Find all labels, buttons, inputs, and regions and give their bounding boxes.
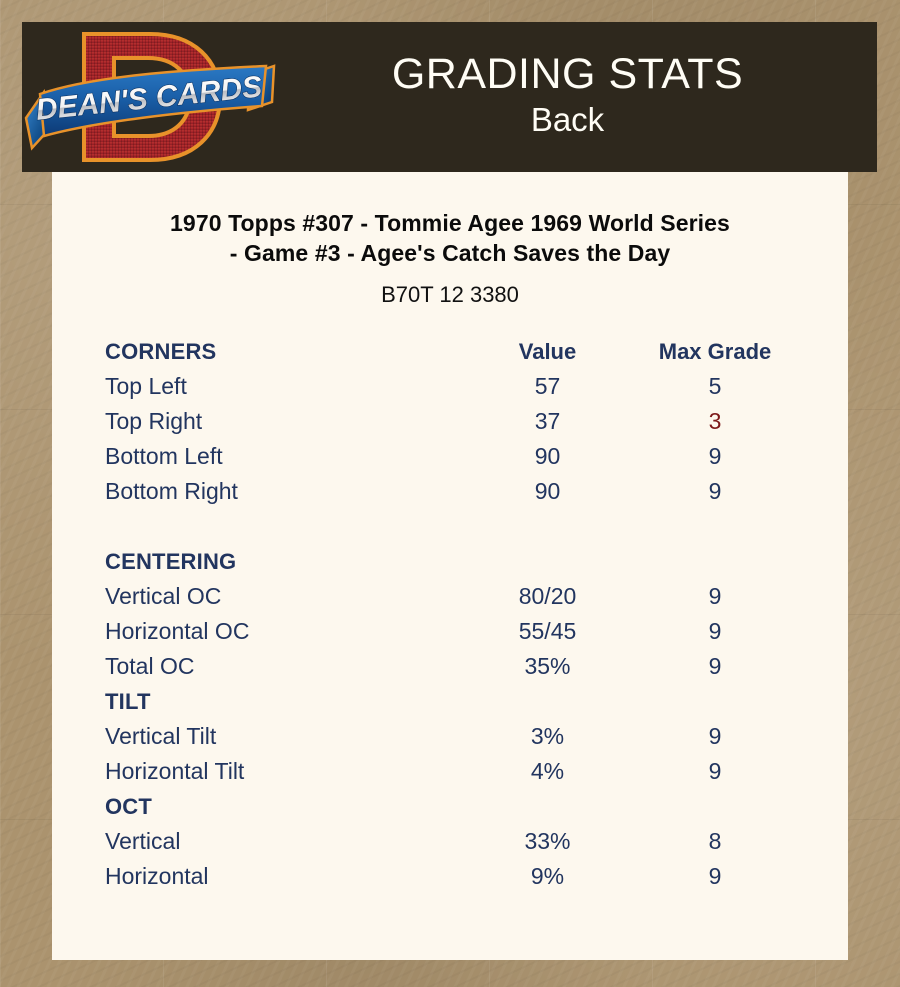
column-header-max-grade: Max Grade xyxy=(635,334,795,369)
row-max-grade: 9 xyxy=(635,579,795,614)
row-value: 33% xyxy=(460,824,635,859)
section-title: CENTERING xyxy=(105,544,460,579)
section-header-row: TILT xyxy=(105,684,795,719)
column-header-value xyxy=(460,684,635,719)
row-label: Horizontal OC xyxy=(105,614,460,649)
header-bar: DEAN'S CARDS GRADING STATS Back xyxy=(22,22,877,172)
logo-graphic: DEAN'S CARDS xyxy=(22,22,284,172)
content-panel: 1970 Topps #307 - Tommie Agee 1969 World… xyxy=(52,172,848,960)
section-title: CORNERS xyxy=(105,334,460,369)
row-max-grade: 9 xyxy=(635,474,795,509)
table-row: Horizontal Tilt4%9 xyxy=(105,754,795,789)
row-value: 90 xyxy=(460,439,635,474)
page-subtitle: Back xyxy=(284,99,851,141)
row-value: 9% xyxy=(460,859,635,894)
row-value: 80/20 xyxy=(460,579,635,614)
row-value: 55/45 xyxy=(460,614,635,649)
table-row: Horizontal OC55/459 xyxy=(105,614,795,649)
page-title: GRADING STATS xyxy=(284,49,851,99)
row-value: 3% xyxy=(460,719,635,754)
row-value: 4% xyxy=(460,754,635,789)
section-header-row: OCT xyxy=(105,789,795,824)
row-max-grade: 8 xyxy=(635,824,795,859)
row-label: Vertical Tilt xyxy=(105,719,460,754)
column-header-value: Value xyxy=(460,334,635,369)
row-value: 35% xyxy=(460,649,635,684)
table-row: Top Right373 xyxy=(105,404,795,439)
row-label: Vertical xyxy=(105,824,460,859)
section-spacer xyxy=(105,509,795,544)
header-title-group: GRADING STATS Back xyxy=(284,49,877,145)
card-title-line-1: 1970 Topps #307 - Tommie Agee 1969 World… xyxy=(52,208,848,238)
table-row: Vertical OC80/209 xyxy=(105,579,795,614)
section-header-row: CORNERSValueMax Grade xyxy=(105,334,795,369)
row-max-grade: 9 xyxy=(635,754,795,789)
card-code: B70T 12 3380 xyxy=(52,280,848,310)
row-max-grade: 9 xyxy=(635,614,795,649)
row-value: 37 xyxy=(460,404,635,439)
table-row: Top Left575 xyxy=(105,369,795,404)
row-label: Vertical OC xyxy=(105,579,460,614)
row-label: Bottom Right xyxy=(105,474,460,509)
section-title: OCT xyxy=(105,789,460,824)
row-max-grade: 9 xyxy=(635,719,795,754)
column-header-max-grade xyxy=(635,684,795,719)
row-value: 57 xyxy=(460,369,635,404)
table-row: Vertical Tilt3%9 xyxy=(105,719,795,754)
column-header-max-grade xyxy=(635,789,795,824)
column-header-value xyxy=(460,789,635,824)
row-label: Bottom Left xyxy=(105,439,460,474)
deans-cards-logo[interactable]: DEAN'S CARDS xyxy=(22,22,284,172)
column-header-max-grade xyxy=(635,544,795,579)
row-label: Horizontal Tilt xyxy=(105,754,460,789)
table-row: Vertical33%8 xyxy=(105,824,795,859)
grading-stats-table: CORNERSValueMax GradeTop Left575Top Righ… xyxy=(105,334,795,894)
card-title-line-2: - Game #3 - Agee's Catch Saves the Day xyxy=(52,238,848,268)
card-title-block: 1970 Topps #307 - Tommie Agee 1969 World… xyxy=(52,172,848,310)
row-label: Total OC xyxy=(105,649,460,684)
row-max-grade: 5 xyxy=(635,369,795,404)
row-label: Top Left xyxy=(105,369,460,404)
section-title: TILT xyxy=(105,684,460,719)
grading-stats-body: CORNERSValueMax GradeTop Left575Top Righ… xyxy=(105,334,795,894)
row-max-grade-alert: 3 xyxy=(635,404,795,439)
table-row: Bottom Left909 xyxy=(105,439,795,474)
row-value: 90 xyxy=(460,474,635,509)
row-label: Top Right xyxy=(105,404,460,439)
row-max-grade: 9 xyxy=(635,439,795,474)
row-label: Horizontal xyxy=(105,859,460,894)
row-max-grade: 9 xyxy=(635,649,795,684)
table-row: Horizontal9%9 xyxy=(105,859,795,894)
table-row: Total OC35%9 xyxy=(105,649,795,684)
table-row: Bottom Right909 xyxy=(105,474,795,509)
column-header-value xyxy=(460,544,635,579)
section-header-row: CENTERING xyxy=(105,544,795,579)
row-max-grade: 9 xyxy=(635,859,795,894)
